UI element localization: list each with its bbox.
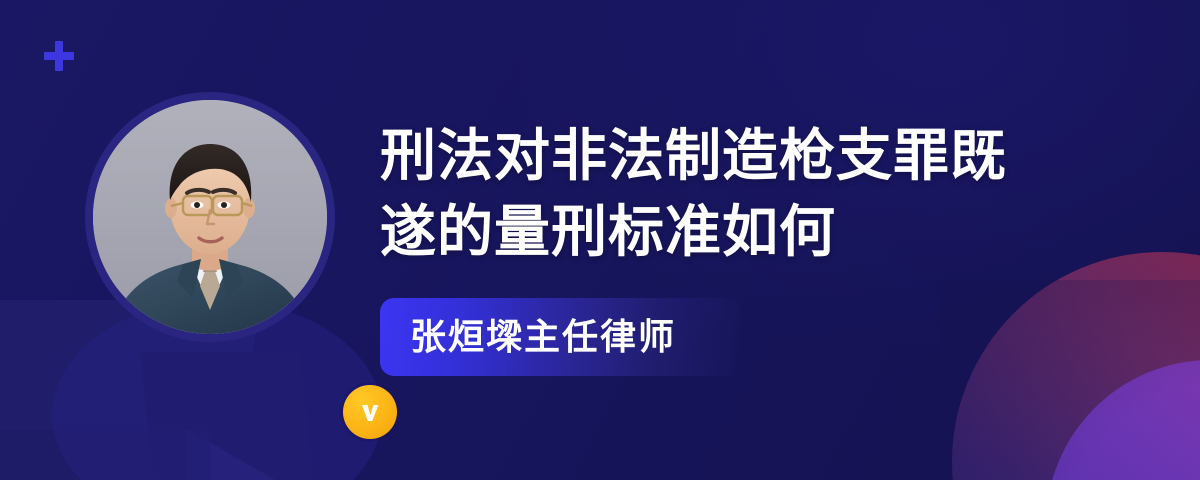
- decorative-blob-outer: [952, 252, 1200, 480]
- promo-banner: 刑法对非法制造枪支罪既 遂的量刑标准如何 张烜墚主任律师: [0, 0, 1200, 480]
- text-content: 刑法对非法制造枪支罪既 遂的量刑标准如何 张烜墚主任律师: [380, 118, 1140, 270]
- plus-icon: [44, 41, 74, 71]
- verified-badge-icon: [343, 385, 397, 439]
- decorative-blob-inner: [1046, 360, 1200, 480]
- avatar: [85, 92, 335, 342]
- decorative-corner-veil: [940, 280, 1200, 480]
- page-title: 刑法对非法制造枪支罪既 遂的量刑标准如何: [380, 118, 1140, 270]
- avatar-photo: [93, 100, 327, 334]
- decorative-facet-mid: [140, 352, 320, 480]
- lawyer-name-badge[interactable]: 张烜墚主任律师: [380, 298, 742, 376]
- lawyer-name-label: 张烜墚主任律师: [410, 319, 676, 355]
- decorative-facet-base: [0, 430, 210, 480]
